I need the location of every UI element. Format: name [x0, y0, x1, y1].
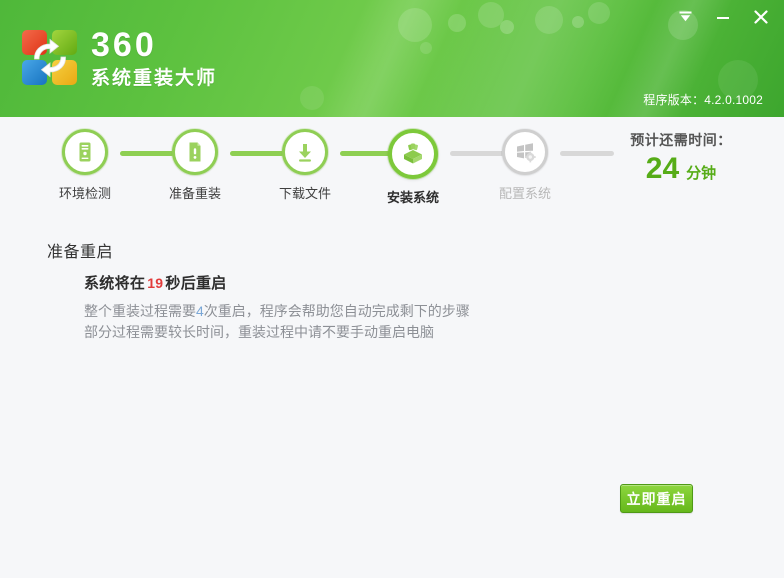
description-line-1-b: 次重启，程序会帮助您自动完成剩下的步骤: [204, 303, 470, 319]
sidebar-item-step-2[interactable]: 准备重装: [155, 129, 235, 202]
countdown-prefix: 系统将在: [84, 275, 145, 292]
step-2-circle: [172, 129, 218, 175]
step-4-circle: [388, 129, 438, 179]
sidebar-item-step-4[interactable]: 安装系统: [373, 129, 453, 206]
time-remaining-panel: 预计还需时间： 24 分钟: [596, 130, 766, 184]
step-3-label: 下载文件: [265, 183, 345, 202]
computer-tower-icon: [73, 140, 97, 164]
progress-stepper: 环境检测 准备重装: [0, 117, 600, 211]
header-bokeh-circle: [420, 42, 432, 54]
countdown-line: 系统将在19秒后重启: [84, 272, 227, 293]
header-bokeh-circle: [448, 14, 466, 32]
brand-subtitle: 系统重装大师: [91, 69, 217, 88]
main-content: 准备重启 系统将在19秒后重启 整个重装过程需要4次重启，程序会帮助您自动完成剩…: [0, 218, 784, 578]
version-text: 程序版本：4.2.0.1002: [643, 91, 763, 108]
app-window: 360 系统重装大师 程序版本：4.2: [0, 0, 784, 578]
time-remaining-unit: 分钟: [686, 162, 716, 183]
step-3-circle: [282, 129, 328, 175]
time-remaining-value: 24: [646, 154, 679, 184]
description-line-1: 整个重装过程需要4次重启，程序会帮助您自动完成剩下的步骤: [84, 301, 470, 322]
step-1-label: 环境检测: [45, 183, 125, 202]
minimize-button[interactable]: [712, 6, 734, 28]
step-1-circle: [62, 129, 108, 175]
sidebar-item-step-1[interactable]: 环境检测: [45, 129, 125, 202]
document-alert-icon: [183, 140, 207, 164]
countdown-seconds: 19: [145, 275, 165, 291]
download-arrow-icon: [293, 140, 317, 164]
360-logo-icon: [22, 30, 78, 86]
close-button[interactable]: [750, 6, 772, 28]
header-bokeh-circle: [588, 2, 610, 24]
reboot-now-button[interactable]: 立即重启: [620, 484, 693, 513]
step-2-label: 准备重装: [155, 183, 235, 202]
sidebar-item-step-5[interactable]: 配置系统: [485, 129, 565, 202]
header-bokeh-circle: [300, 86, 324, 110]
step-5-circle: [502, 129, 548, 175]
description-line-2: 部分过程需要较长时间，重装过程中请不要手动重启电脑: [84, 322, 470, 343]
app-logo: 360 系统重装大师: [22, 28, 217, 88]
minimize-icon: [715, 10, 731, 24]
close-icon: [753, 9, 769, 25]
header-bokeh-circle: [398, 8, 432, 42]
brand-number: 360: [91, 28, 217, 62]
install-package-icon: [400, 141, 426, 167]
header-bokeh-circle: [500, 20, 514, 34]
windows-gear-icon: [513, 140, 537, 164]
time-remaining-label: 预计还需时间：: [596, 130, 766, 150]
description-text: 整个重装过程需要4次重启，程序会帮助您自动完成剩下的步骤 部分过程需要较长时间，…: [84, 301, 470, 343]
collapse-icon: [678, 10, 693, 24]
step-5-label: 配置系统: [485, 183, 565, 202]
header-bokeh-circle: [535, 6, 563, 34]
window-controls: [674, 6, 772, 28]
countdown-suffix: 秒后重启: [165, 275, 226, 292]
refresh-arrows-icon: [30, 38, 70, 78]
sidebar-item-step-3[interactable]: 下载文件: [265, 129, 345, 202]
reboot-count: 4: [196, 303, 204, 319]
step-4-label: 安装系统: [373, 187, 453, 206]
collapse-button[interactable]: [674, 6, 696, 28]
app-header: 360 系统重装大师 程序版本：4.2: [0, 0, 784, 117]
time-remaining-value-row: 24 分钟: [596, 154, 766, 184]
header-bokeh-circle: [572, 16, 584, 28]
page-title: 准备重启: [47, 238, 113, 262]
description-line-1-a: 整个重装过程需要: [84, 303, 196, 319]
